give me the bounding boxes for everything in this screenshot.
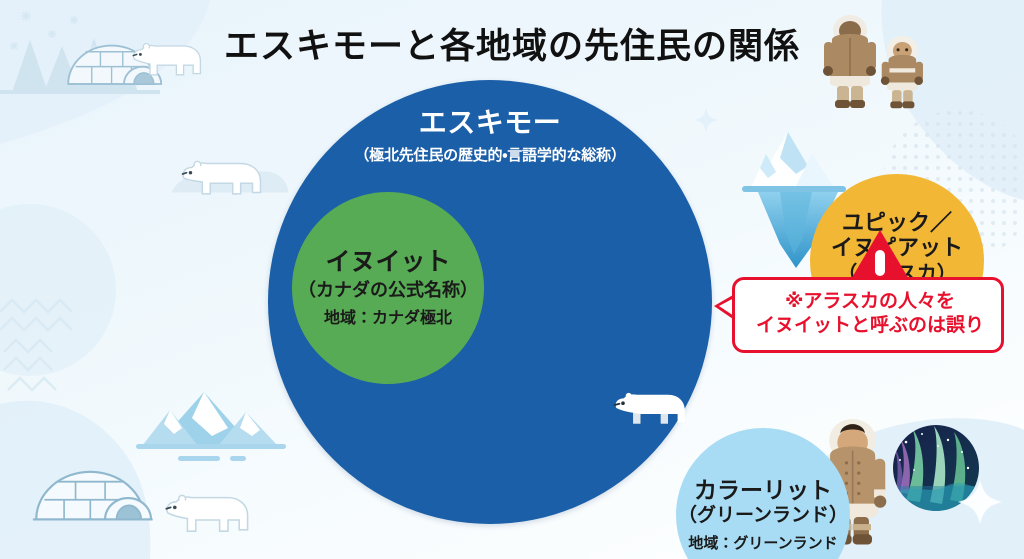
warning-callout-box: ※アラスカの人々を イヌイットと呼ぶのは誤り — [732, 277, 1004, 353]
polar-bear-icon — [166, 495, 247, 531]
circle-eskimo-title: エスキモー — [268, 108, 712, 139]
infographic-canvas: エスキモーと各地域の先住民の関係 エスキモー （極北先住民の歴史的・言語学的な総… — [0, 0, 1024, 559]
aurora-icon — [893, 425, 979, 512]
circle-inuit-name: イヌイット — [325, 248, 450, 276]
glacier-mountain-icon — [136, 392, 286, 461]
wave-pattern — [0, 300, 72, 390]
polar-bear-icon — [608, 376, 686, 428]
page-title: エスキモーと各地域の先住民の関係 — [0, 18, 1024, 69]
circle-eskimo-subtitle: （極北先住民の歴史的・言語学的な総称） — [268, 144, 712, 165]
circle-inuit-region: 地域：カナダ極北 — [324, 310, 452, 328]
warning-callout-line2: イヌイットと呼ぶのは誤り — [749, 314, 991, 338]
warning-callout: ※アラスカの人々を イヌイットと呼ぶのは誤り — [732, 277, 1004, 353]
circle-kalaallit-paren: （グリーンランド） — [678, 505, 848, 527]
circle-kalaallit-region: 地域：グリーンランド — [688, 535, 837, 552]
circle-inuit-paren: （カナダの公式名称） — [298, 280, 478, 301]
igloo-icon — [33, 472, 153, 520]
warning-callout-line1: ※アラスカの人々を — [749, 290, 991, 314]
venn-diagram: エスキモー （極北先住民の歴史的・言語学的な総称） イヌイット （カナダの公式名… — [268, 80, 712, 524]
circle-inuit: イヌイット （カナダの公式名称） 地域：カナダ極北 — [292, 192, 484, 384]
circle-kalaallit-name: カラーリット — [694, 478, 832, 504]
circle-eskimo-label-group: エスキモー （極北先住民の歴史的・言語学的な総称） — [268, 108, 712, 165]
circle-kalaallit: カラーリット （グリーンランド） 地域：グリーンランド — [676, 428, 850, 559]
snowflake-icon — [958, 480, 1002, 524]
